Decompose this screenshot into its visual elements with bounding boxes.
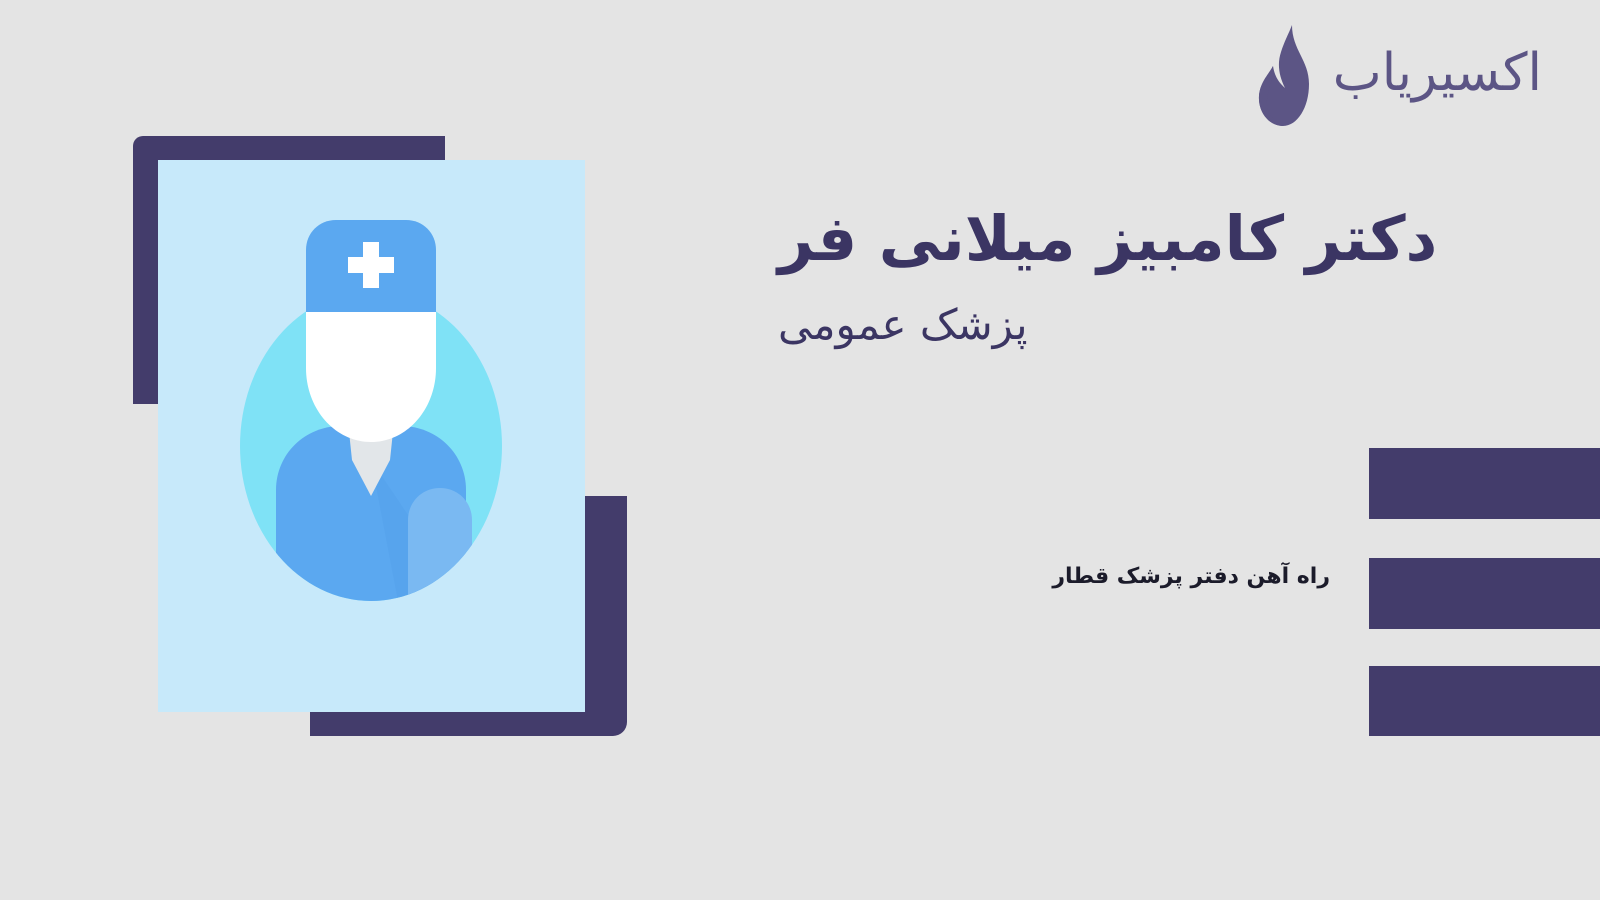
doctor-specialty: پزشک عمومی	[778, 296, 1538, 355]
doctor-name: دکتر کامبیز میلانی فر	[778, 200, 1538, 278]
decorative-bar-2	[1369, 558, 1600, 629]
clinic-location-label: راه آهن دفتر پزشک قطار	[0, 564, 1330, 589]
decorative-bar-3	[1369, 666, 1600, 736]
doctor-photo-artwork	[133, 136, 633, 740]
brand-logo[interactable]: اکسیریاب	[1247, 22, 1542, 130]
brand-name: اکسیریاب	[1333, 47, 1542, 105]
decorative-bar-1	[1369, 448, 1600, 519]
flame-drop-icon	[1247, 22, 1319, 130]
doctor-avatar-icon	[158, 160, 585, 712]
doctor-info-block: دکتر کامبیز میلانی فر پزشک عمومی	[778, 200, 1538, 354]
slide-canvas: اکسیریاب	[0, 0, 1600, 900]
doctor-photo-card	[158, 160, 585, 712]
